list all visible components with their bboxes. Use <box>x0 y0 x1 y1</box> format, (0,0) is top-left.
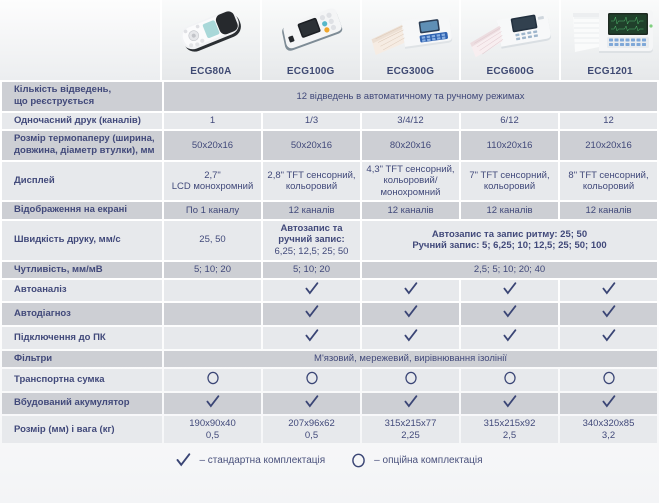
table-row: Чутливість, мм/мВ5; 10; 205; 10; 202,5; … <box>2 262 657 278</box>
spec-check-cell <box>263 303 360 325</box>
circle-icon <box>602 371 616 385</box>
spec-value: 12 <box>560 113 657 129</box>
spec-value: 210x20x16 <box>560 131 657 160</box>
spec-check-cell <box>461 280 558 302</box>
spec-label: Швидкість друку, мм/с <box>2 221 162 260</box>
table-row: Автоаналіз <box>2 280 657 302</box>
spec-value: 4,3" TFT сенсорний,кольоровий/монохромни… <box>362 162 459 201</box>
spec-empty-cell <box>164 303 261 325</box>
spec-label: Чутливість, мм/мВ <box>2 262 162 278</box>
table-row: Швидкість друку, мм/с25, 50Автозапис тар… <box>2 221 657 260</box>
desktop-ecg-device-photo <box>561 4 659 62</box>
check-icon <box>602 395 616 409</box>
spec-check-cell <box>461 393 558 415</box>
spec-check-cell <box>560 393 657 415</box>
spec-check-cell <box>362 327 459 349</box>
product-card-ecg300g[interactable]: ECG300G <box>362 0 460 80</box>
legend-standard: – стандартна комплектація <box>176 453 325 468</box>
handheld-ecg-device-photo <box>162 4 260 62</box>
handheld-ecg-device-photo <box>262 4 360 62</box>
spec-circle-cell <box>560 369 657 391</box>
check-icon <box>206 395 220 409</box>
table-row: Відображення на екраніПо 1 каналу12 кана… <box>2 202 657 218</box>
spec-check-cell <box>461 327 558 349</box>
spec-value: 340x320x853,2 <box>560 416 657 443</box>
spec-label: Транспортна сумка <box>2 369 162 391</box>
circle-icon <box>305 371 319 385</box>
check-icon <box>503 329 517 343</box>
table-row: ФільтриМ'язовий, мережевий, вирівнювання… <box>2 351 657 367</box>
table-row: Транспортна сумка <box>2 369 657 391</box>
spec-value-group: 2,5; 5; 10; 20; 40 <box>362 262 657 278</box>
circle-icon <box>503 371 517 385</box>
spec-value: 50x20x16 <box>164 131 261 160</box>
spec-value: 12 каналів <box>263 202 360 218</box>
spec-check-cell <box>560 327 657 349</box>
spec-label: Фільтри <box>2 351 162 367</box>
spec-value-group: Автозапис таручний запис:6,25; 12,5; 25;… <box>263 221 360 260</box>
product-card-ecg100g[interactable]: ECG100G <box>262 0 360 80</box>
spec-circle-cell <box>461 369 558 391</box>
spec-value: 2,8" TFT сенсорний,кольоровий <box>263 162 360 201</box>
spec-value: 7" TFT сенсорний,кольоровий <box>461 162 558 201</box>
spec-circle-cell <box>362 369 459 391</box>
spec-check-cell <box>164 393 261 415</box>
spec-value: 50x20x16 <box>263 131 360 160</box>
legend-optional-label: – опційна комплектація <box>374 455 482 466</box>
check-icon <box>305 305 319 319</box>
product-card-ecg80a[interactable]: ECG80A <box>162 0 260 80</box>
check-icon <box>404 329 418 343</box>
spec-label: Автоаналіз <box>2 280 162 302</box>
spec-value: 315x215x772,25 <box>362 416 459 443</box>
spec-value-merged: 12 відведень в автоматичному та ручному … <box>164 82 657 111</box>
spec-value: 110x20x16 <box>461 131 558 160</box>
circle-icon <box>206 371 220 385</box>
product-cards: ECG80A <box>162 0 659 80</box>
circle-icon <box>404 371 418 385</box>
specs-table: Кількість відведень,що реєструється12 ві… <box>0 80 659 445</box>
legend-optional: – опційна комплектація <box>351 453 482 468</box>
spec-check-cell <box>362 393 459 415</box>
product-name: ECG1201 <box>587 66 632 77</box>
desktop-ecg-device-photo <box>461 4 559 62</box>
spec-value: 80x20x16 <box>362 131 459 160</box>
product-header-row: ECG80A <box>0 0 659 80</box>
spec-value: 3/4/12 <box>362 113 459 129</box>
spec-circle-cell <box>164 369 261 391</box>
spec-value: По 1 каналу <box>164 202 261 218</box>
spec-check-cell <box>560 280 657 302</box>
product-name: ECG300G <box>387 66 435 77</box>
product-name: ECG600G <box>487 66 535 77</box>
spec-empty-cell <box>164 327 261 349</box>
spec-value: 12 каналів <box>362 202 459 218</box>
check-icon <box>305 329 319 343</box>
spec-value: 8" TFT сенсорний,кольоровий <box>560 162 657 201</box>
check-icon <box>602 329 616 343</box>
spec-check-cell <box>362 303 459 325</box>
spec-label: Дисплей <box>2 162 162 201</box>
check-icon <box>602 305 616 319</box>
check-icon <box>602 282 616 296</box>
spec-value: 2,7"LCD монохромний <box>164 162 261 201</box>
spec-value: 315x215x922,5 <box>461 416 558 443</box>
table-row: Підключення до ПК <box>2 327 657 349</box>
spec-value: 190x90x400,5 <box>164 416 261 443</box>
check-icon <box>503 395 517 409</box>
table-row: Дисплей2,7"LCD монохромний2,8" TFT сенсо… <box>2 162 657 201</box>
spec-check-cell <box>263 393 360 415</box>
table-row: Кількість відведень,що реєструється12 ві… <box>2 82 657 111</box>
spec-value: 1/3 <box>263 113 360 129</box>
spec-value-group: 5; 10; 20 <box>164 262 261 278</box>
check-icon <box>404 282 418 296</box>
product-card-ecg600g[interactable]: ECG600G <box>461 0 559 80</box>
spec-label: Розмір термопаперу (ширина,довжина, діам… <box>2 131 162 160</box>
check-icon <box>404 305 418 319</box>
check-icon <box>404 395 418 409</box>
comparison-sheet: ECG80A <box>0 0 659 503</box>
spec-value: 12 каналів <box>461 202 558 218</box>
spec-label: Одночасний друк (каналів) <box>2 113 162 129</box>
spec-value: 12 каналів <box>560 202 657 218</box>
header-corner-spacer <box>0 0 162 80</box>
table-row: Автодіагноз <box>2 303 657 325</box>
spec-circle-cell <box>263 369 360 391</box>
spec-label: Кількість відведень,що реєструється <box>2 82 162 111</box>
check-icon <box>503 305 517 319</box>
table-row: Розмір (мм) і вага (кг)190x90x400,5207x9… <box>2 416 657 443</box>
desktop-ecg-device-photo <box>362 4 460 62</box>
spec-label: Розмір (мм) і вага (кг) <box>2 416 162 443</box>
spec-value-merged: М'язовий, мережевий, вирівнювання ізолін… <box>164 351 657 367</box>
table-row: Розмір термопаперу (ширина,довжина, діам… <box>2 131 657 160</box>
spec-value: 1 <box>164 113 261 129</box>
spec-label: Вбудований акумулятор <box>2 393 162 415</box>
check-icon <box>503 282 517 296</box>
product-card-ecg1201[interactable]: ECG1201 <box>561 0 659 80</box>
spec-value: 6/12 <box>461 113 558 129</box>
spec-empty-cell <box>164 280 261 302</box>
spec-label: Відображення на екрані <box>2 202 162 218</box>
spec-check-cell <box>263 280 360 302</box>
spec-value-group: 25, 50 <box>164 221 261 260</box>
check-icon <box>305 395 319 409</box>
spec-label: Автодіагноз <box>2 303 162 325</box>
spec-label: Підключення до ПК <box>2 327 162 349</box>
table-row: Вбудований акумулятор <box>2 393 657 415</box>
spec-check-cell <box>461 303 558 325</box>
check-icon <box>176 453 191 468</box>
legend-standard-label: – стандартна комплектація <box>199 455 325 466</box>
spec-check-cell <box>362 280 459 302</box>
check-icon <box>305 282 319 296</box>
spec-value: 207x96x620,5 <box>263 416 360 443</box>
spec-value-group: 5; 10; 20 <box>263 262 360 278</box>
specs-table-body: Кількість відведень,що реєструється12 ві… <box>2 82 657 443</box>
circle-icon <box>351 453 366 468</box>
spec-check-cell <box>263 327 360 349</box>
spec-check-cell <box>560 303 657 325</box>
table-row: Одночасний друк (каналів)11/33/4/126/121… <box>2 113 657 129</box>
product-name: ECG100G <box>287 66 335 77</box>
legend: – стандартна комплектація – опційна комп… <box>0 445 659 475</box>
spec-value-group: Автозапис та запис ритму: 25; 50Ручний з… <box>362 221 657 260</box>
product-name: ECG80A <box>190 66 231 77</box>
